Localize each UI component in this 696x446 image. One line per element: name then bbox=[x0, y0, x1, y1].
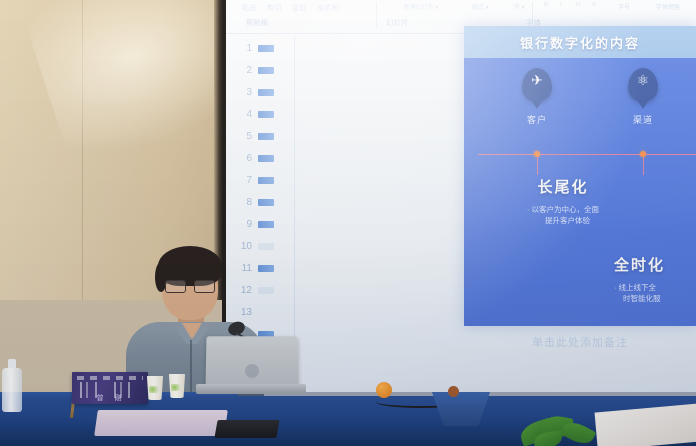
network-glyph: ⚛ bbox=[628, 73, 658, 87]
concept-heading: 全时化 bbox=[614, 254, 696, 275]
slide-concept-long-tail: 长尾化 ·以客户为中心，全面 提升客户体验 bbox=[498, 176, 628, 227]
thumb-preview-icon bbox=[258, 133, 274, 140]
potted-plant bbox=[512, 412, 602, 446]
slide-concept-all-time: 全时化 ·线上线下全 时智能化服 bbox=[614, 254, 696, 305]
thumb-number: 9 bbox=[226, 219, 258, 230]
concept-bullet-line2: 提升客户体验 bbox=[507, 215, 628, 226]
list-item[interactable]: 9 bbox=[226, 214, 294, 236]
thumb-number: 8 bbox=[226, 197, 258, 208]
timeline-stem bbox=[537, 157, 538, 175]
list-item[interactable]: 7 bbox=[226, 170, 294, 192]
ribbon-cmd-paste[interactable]: 粘贴 bbox=[242, 3, 257, 13]
lecture-room-scene: 粘贴 剪切 复制 格式刷 新建幻灯片 ▾ 版式 ▾ 节 ▾ B I U S 字号… bbox=[0, 0, 696, 446]
slide-node-channel: ⚛ 渠道 bbox=[614, 68, 672, 126]
ribbon-cmd-font-color[interactable]: 字体颜色 bbox=[656, 2, 680, 11]
thumb-number: 7 bbox=[226, 175, 258, 186]
concept-bullet-line1: 以客户为中心，全面 bbox=[532, 205, 600, 214]
thumb-number: 3 bbox=[226, 87, 258, 98]
placard-name-text: 曾 刚 bbox=[72, 393, 148, 403]
list-item[interactable]: 3 bbox=[226, 82, 294, 104]
bullet-marker: · bbox=[527, 205, 530, 214]
slide-node-customer: ✈ 客户 bbox=[508, 68, 566, 126]
water-bottle bbox=[2, 368, 22, 412]
timeline-stem bbox=[643, 157, 644, 175]
slide-timeline-line bbox=[478, 154, 696, 155]
airplane-glyph: ✈ bbox=[522, 73, 552, 87]
thumb-number: 6 bbox=[226, 153, 258, 164]
thumb-preview-icon bbox=[258, 221, 274, 228]
concept-heading: 长尾化 bbox=[498, 176, 628, 197]
ribbon-cmd-cut[interactable]: 剪切 bbox=[267, 3, 282, 13]
airplane-icon: ✈ bbox=[522, 68, 552, 102]
laptop-base bbox=[196, 384, 306, 394]
ribbon-cmd-underline[interactable]: U bbox=[576, 2, 580, 8]
ribbon-cmd-font-size[interactable]: 字号 bbox=[618, 2, 630, 11]
tablet-device bbox=[214, 420, 279, 438]
ribbon-cmd-italic[interactable]: I bbox=[560, 2, 562, 8]
ribbon-group-clipboard: 剪贴板 bbox=[246, 17, 269, 28]
list-item[interactable]: 5 bbox=[226, 126, 294, 148]
list-item[interactable]: 8 bbox=[226, 192, 294, 214]
microphone-head bbox=[226, 319, 247, 337]
ribbon-cmd-format-painter[interactable]: 格式刷 bbox=[317, 3, 340, 13]
thumb-number: 4 bbox=[226, 109, 258, 120]
paper-cup bbox=[146, 376, 164, 400]
thumb-preview-icon bbox=[258, 45, 274, 52]
slide-node-label: 客户 bbox=[508, 113, 566, 126]
ribbon-cmd-layout[interactable]: 版式 ▾ bbox=[472, 2, 489, 11]
bullet-marker: · bbox=[614, 283, 617, 292]
concept-bullet: ·线上线下全 时智能化服 bbox=[614, 282, 696, 305]
laptop bbox=[196, 336, 306, 402]
thumb-preview-icon bbox=[258, 155, 274, 162]
thumb-preview-icon bbox=[258, 111, 274, 118]
projection-screen: 粘贴 剪切 复制 格式刷 新建幻灯片 ▾ 版式 ▾ 节 ▾ B I U S 字号… bbox=[226, 0, 696, 392]
thumb-preview-icon bbox=[258, 67, 274, 74]
placard-header-strip bbox=[77, 376, 143, 380]
concept-bullet: ·以客户为中心，全面 提升客户体验 bbox=[498, 204, 628, 227]
name-placard: 曾 刚 bbox=[72, 372, 148, 404]
list-item[interactable]: 4 bbox=[226, 104, 294, 126]
slide-body: ✈ 客户 ⚛ 渠道 长尾化 ·以客户 bbox=[464, 58, 696, 326]
presenter-shirt-placket bbox=[190, 340, 192, 400]
notes-placeholder: 单击此处添加备注 bbox=[532, 334, 628, 350]
paper-cup bbox=[168, 374, 186, 398]
thumb-preview-icon bbox=[258, 199, 274, 206]
ribbon-cmd-section[interactable]: 节 ▾ bbox=[514, 2, 525, 11]
ribbon-cmd-shadow[interactable]: S bbox=[592, 2, 596, 8]
glasses-icon bbox=[165, 280, 215, 291]
slide-node-label: 渠道 bbox=[614, 113, 672, 126]
laptop-lid bbox=[206, 336, 299, 386]
slide-title-band: 银行数字化的内容 bbox=[464, 26, 696, 58]
small-round-object bbox=[448, 386, 459, 397]
slide-edit-canvas[interactable]: 银行数字化的内容 ✈ 客户 ⚛ 渠道 bbox=[464, 26, 696, 326]
slide-notes-area[interactable]: 单击此处添加备注 bbox=[464, 334, 696, 364]
concept-bullet-line2: 时智能化服 bbox=[623, 293, 696, 304]
thumb-preview-icon bbox=[258, 177, 274, 184]
concept-bullet-line1: 线上线下全 bbox=[619, 283, 657, 292]
network-icon: ⚛ bbox=[628, 68, 658, 102]
ribbon-cmd-copy[interactable]: 复制 bbox=[292, 3, 307, 13]
papers-on-table bbox=[94, 410, 228, 436]
thumb-number: 1 bbox=[226, 43, 258, 54]
list-item[interactable]: 6 bbox=[226, 148, 294, 170]
ribbon-group-slides: 幻灯片 bbox=[386, 17, 409, 28]
list-item[interactable]: 2 bbox=[226, 60, 294, 82]
list-item[interactable]: 1 bbox=[226, 38, 294, 60]
slide-title: 银行数字化的内容 bbox=[520, 33, 640, 52]
thumb-preview-icon bbox=[258, 89, 274, 96]
ribbon-cmd-bold[interactable]: B bbox=[544, 2, 548, 8]
thumb-number: 5 bbox=[226, 131, 258, 142]
ribbon-cmd-new-slide[interactable]: 新建幻灯片 ▾ bbox=[404, 2, 439, 11]
thumb-number: 2 bbox=[226, 65, 258, 76]
